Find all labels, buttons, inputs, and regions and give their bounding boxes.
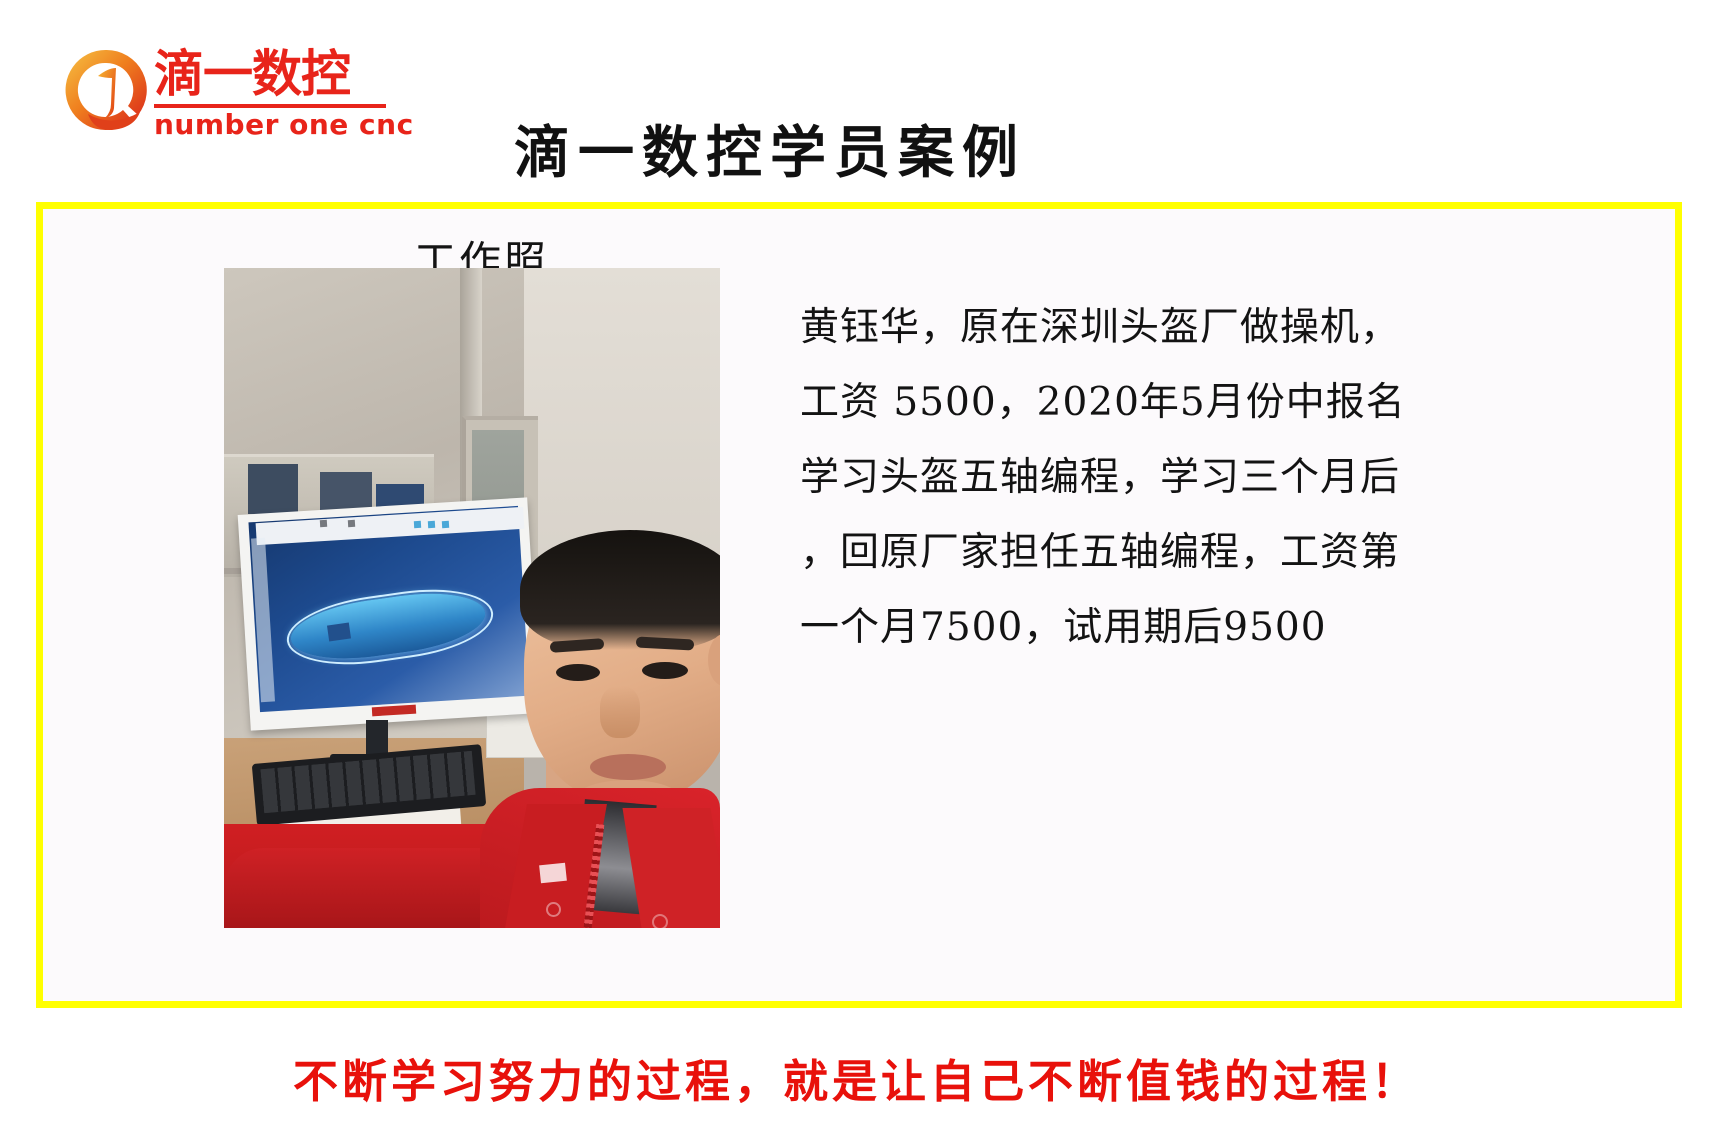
case-line: 工资 5500，2020年5月份中报名: [800, 365, 1540, 440]
photo-person-eye: [556, 664, 600, 681]
brand-name-en: number one cnc: [154, 108, 386, 142]
photo-jacket-snap: [652, 914, 668, 928]
photo-cam-tool-icon: [428, 521, 435, 528]
case-line: 一个月7500，试用期后9500: [800, 590, 1540, 665]
brand-name-cn: 滴一数控: [154, 46, 386, 102]
photo-jacket-logo: [539, 863, 567, 884]
work-photo: [224, 268, 720, 928]
case-line: ，回原厂家担任五轴编程，工资第: [800, 515, 1540, 590]
page-title: 滴一数控学员案例: [450, 108, 1090, 189]
photo-jacket-arm: [224, 848, 524, 928]
photo-cam-tool-icon: [348, 520, 355, 527]
photo-person-eye: [642, 662, 688, 679]
case-line: 学习头盔五轴编程，学习三个月后: [800, 440, 1540, 515]
photo-cam-tool-icon: [320, 520, 327, 527]
photo-monitor-stand: [366, 720, 388, 756]
photo-cam-model-notch: [327, 623, 351, 642]
photo-cabinet-pane: [248, 464, 298, 514]
brand-wordmark: 滴一数控 number one cnc: [154, 46, 386, 142]
photo-jacket-snap: [546, 902, 561, 917]
photo-person-mouth: [590, 754, 666, 780]
case-line: 黄钰华，原在深圳头盔厂做操机，: [800, 290, 1540, 365]
case-description: 黄钰华，原在深圳头盔厂做操机， 工资 5500，2020年5月份中报名 学习头盔…: [800, 290, 1540, 665]
circle-numeral-one-swoosh-icon: [58, 44, 154, 140]
brand-logo: 滴一数控 number one cnc: [58, 40, 388, 145]
photo-person-hair: [520, 530, 720, 650]
photo-cam-tool-icon: [414, 521, 421, 528]
footer-slogan: 不断学习努力的过程，就是让自己不断值钱的过程！: [0, 1045, 1713, 1110]
photo-person-nose: [600, 686, 640, 738]
photo-cam-tool-icon: [442, 521, 449, 528]
